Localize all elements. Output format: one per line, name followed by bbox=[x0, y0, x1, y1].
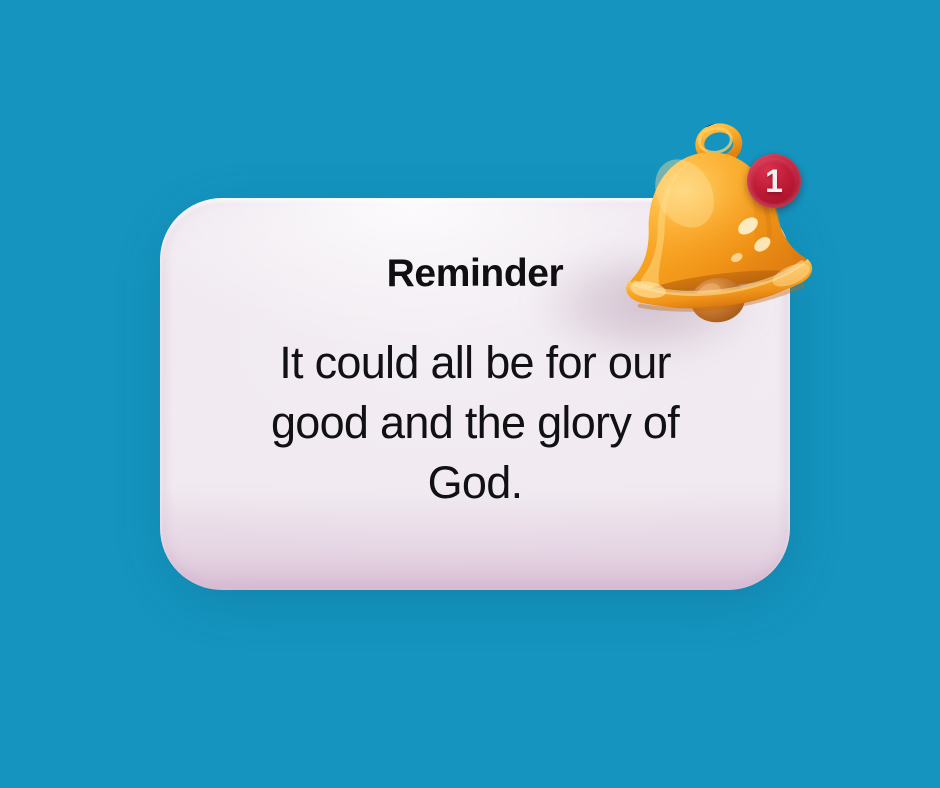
card-body-line-1: It could all be for our bbox=[271, 333, 679, 393]
card-title: Reminder bbox=[387, 254, 564, 295]
card-body-text: It could all be for our good and the glo… bbox=[271, 333, 679, 513]
reminder-graphic-canvas: Reminder It could all be for our good an… bbox=[0, 0, 940, 788]
card-body-line-3: God. bbox=[271, 453, 679, 513]
badge-count-label: 1 bbox=[765, 165, 783, 197]
notification-bell[interactable] bbox=[605, 118, 820, 318]
card-body-line-2: good and the glory of bbox=[271, 393, 679, 453]
notification-count-badge[interactable]: 1 bbox=[747, 154, 801, 208]
notification-bell-icon bbox=[605, 118, 820, 318]
